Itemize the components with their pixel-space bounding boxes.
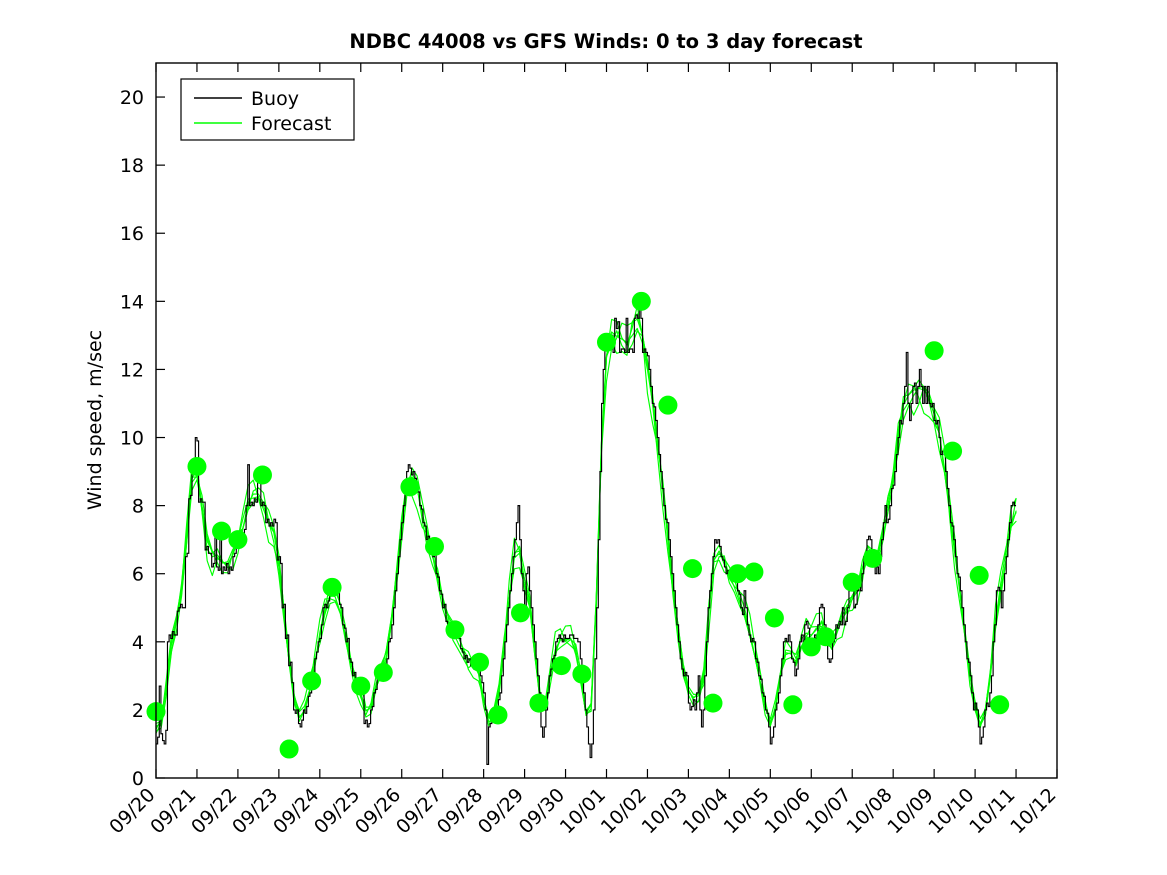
forecast-marker-dot	[765, 608, 784, 627]
forecast-marker-dot	[228, 530, 247, 549]
forecast-marker-dot	[703, 694, 722, 713]
forecast-marker-dot	[943, 442, 962, 461]
forecast-marker-dot	[744, 563, 763, 582]
y-tick-label: 20	[120, 87, 144, 109]
chart-legend[interactable]: Buoy Forecast	[181, 79, 354, 140]
forecast-marker-dot	[683, 559, 702, 578]
forecast-marker-dot	[445, 620, 464, 639]
forecast-marker-dot	[187, 457, 206, 476]
forecast-marker-dot	[425, 537, 444, 556]
forecast-marker-dot	[552, 656, 571, 675]
forecast-marker-dot	[970, 566, 989, 585]
y-tick-label: 12	[120, 359, 144, 381]
forecast-marker-dot	[400, 477, 419, 496]
legend-label-forecast: Forecast	[251, 113, 331, 135]
forecast-marker-dot	[658, 396, 677, 415]
y-tick-label: 6	[132, 564, 144, 586]
forecast-marker-dot	[728, 564, 747, 583]
forecast-marker-dot	[925, 341, 944, 360]
chart-title: NDBC 44008 vs GFS Winds: 0 to 3 day fore…	[349, 30, 862, 53]
forecast-marker-dot	[843, 573, 862, 592]
forecast-marker-dot	[783, 695, 802, 714]
forecast-marker-dot	[470, 653, 489, 672]
forecast-marker-dot	[212, 522, 231, 541]
forecast-marker-dot	[816, 627, 835, 646]
y-axis-label: Wind speed, m/sec	[84, 330, 106, 510]
figure-container: NDBC 44008 vs GFS Winds: 0 to 3 day fore…	[0, 0, 1167, 875]
y-tick-label: 8	[132, 496, 144, 518]
forecast-marker-dot	[597, 333, 616, 352]
forecast-marker-dot	[863, 549, 882, 568]
forecast-marker-dot	[529, 694, 548, 713]
forecast-marker-dot	[990, 695, 1009, 714]
forecast-marker-dot	[511, 603, 530, 622]
y-tick-label: 4	[132, 632, 144, 654]
forecast-marker-dot	[632, 292, 651, 311]
y-tick-label: 18	[120, 155, 144, 177]
wind-speed-chart: NDBC 44008 vs GFS Winds: 0 to 3 day fore…	[0, 0, 1167, 875]
forecast-marker-dot	[280, 740, 299, 759]
forecast-marker-dot	[488, 706, 507, 725]
forecast-marker-dot	[323, 578, 342, 597]
y-tick-label: 16	[120, 223, 144, 245]
forecast-marker-dot	[253, 465, 272, 484]
forecast-marker-dot	[302, 671, 321, 690]
chart-background	[0, 0, 1167, 875]
forecast-marker-dot	[374, 663, 393, 682]
legend-label-buoy: Buoy	[251, 88, 299, 110]
forecast-marker-dot	[572, 665, 591, 684]
y-tick-label: 2	[132, 700, 144, 722]
y-tick-label: 14	[120, 291, 144, 313]
y-tick-label: 10	[120, 428, 144, 450]
forecast-marker-dot	[351, 677, 370, 696]
